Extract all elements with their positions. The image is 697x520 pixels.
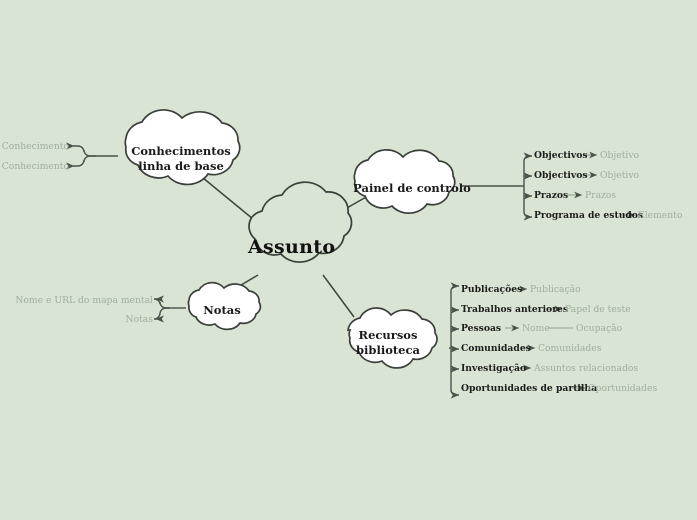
item-oportunidades-partilha-value: Oportunidades [588, 384, 657, 393]
node-painel-label: Painel de controlo [353, 181, 471, 197]
leaf-conhecimento-2: Conhecimento [0, 162, 69, 171]
node-notas-label: Notas [186, 303, 258, 319]
node-conhecimentos-label-line1: Conhecimentos [121, 144, 241, 160]
item-objectivos-1[interactable]: Objectivos [534, 151, 588, 160]
item-investigacao[interactable]: Investigação [461, 364, 526, 373]
item-prazos[interactable]: Prazos [534, 191, 568, 200]
leaf-conhecimento-1: Conhecimento [0, 142, 69, 151]
item-comunidades-value: Comunidades [538, 344, 601, 353]
node-conhecimentos-label-line2: linha de base [121, 159, 241, 175]
item-pessoas-value2: Ocupação [576, 324, 622, 333]
item-programa-estudos-value: Elemento [638, 211, 682, 220]
item-publicacoes-value: Publicação [530, 285, 581, 294]
spine-recursos [449, 286, 459, 395]
spine-painel [462, 156, 532, 217]
connector-center-conhecimentos [197, 173, 253, 219]
page-title: Assunto [248, 238, 335, 257]
item-investigacao-value: Assuntos relacionados [534, 364, 638, 373]
bracket-conhecimentos [73, 146, 118, 166]
connector-center-recursos [323, 275, 354, 317]
item-objectivos-1-value: Objetivo [600, 151, 639, 160]
item-prazos-value: Prazos [585, 191, 616, 200]
item-publicacoes[interactable]: Publicações [461, 285, 522, 294]
item-programa-estudos[interactable]: Programa de estudos [534, 211, 643, 220]
node-recursos-label-line1: Recursos [345, 328, 431, 344]
mindmap-canvas [0, 0, 697, 520]
leaf-nome-url-mapa-mental: Nome e URL do mapa mental [10, 296, 153, 305]
item-oportunidades-partilha[interactable]: Oportunidades de partilha [461, 384, 597, 393]
item-objectivos-2[interactable]: Objectivos [534, 171, 588, 180]
leaf-notas: Notas [10, 315, 153, 324]
item-objectivos-2-value: Objetivo [600, 171, 639, 180]
node-recursos-label-line2: biblioteca [345, 343, 431, 359]
item-trabalhos-anteriores-value: Papel de teste [565, 305, 631, 314]
item-pessoas[interactable]: Pessoas [461, 324, 501, 333]
bracket-notas [154, 299, 186, 319]
item-arrows-painel [568, 155, 635, 215]
item-pessoas-value: Nome [522, 324, 550, 333]
item-trabalhos-anteriores[interactable]: Trabalhos anteriores [461, 305, 568, 314]
item-comunidades[interactable]: Comunidades [461, 344, 531, 353]
